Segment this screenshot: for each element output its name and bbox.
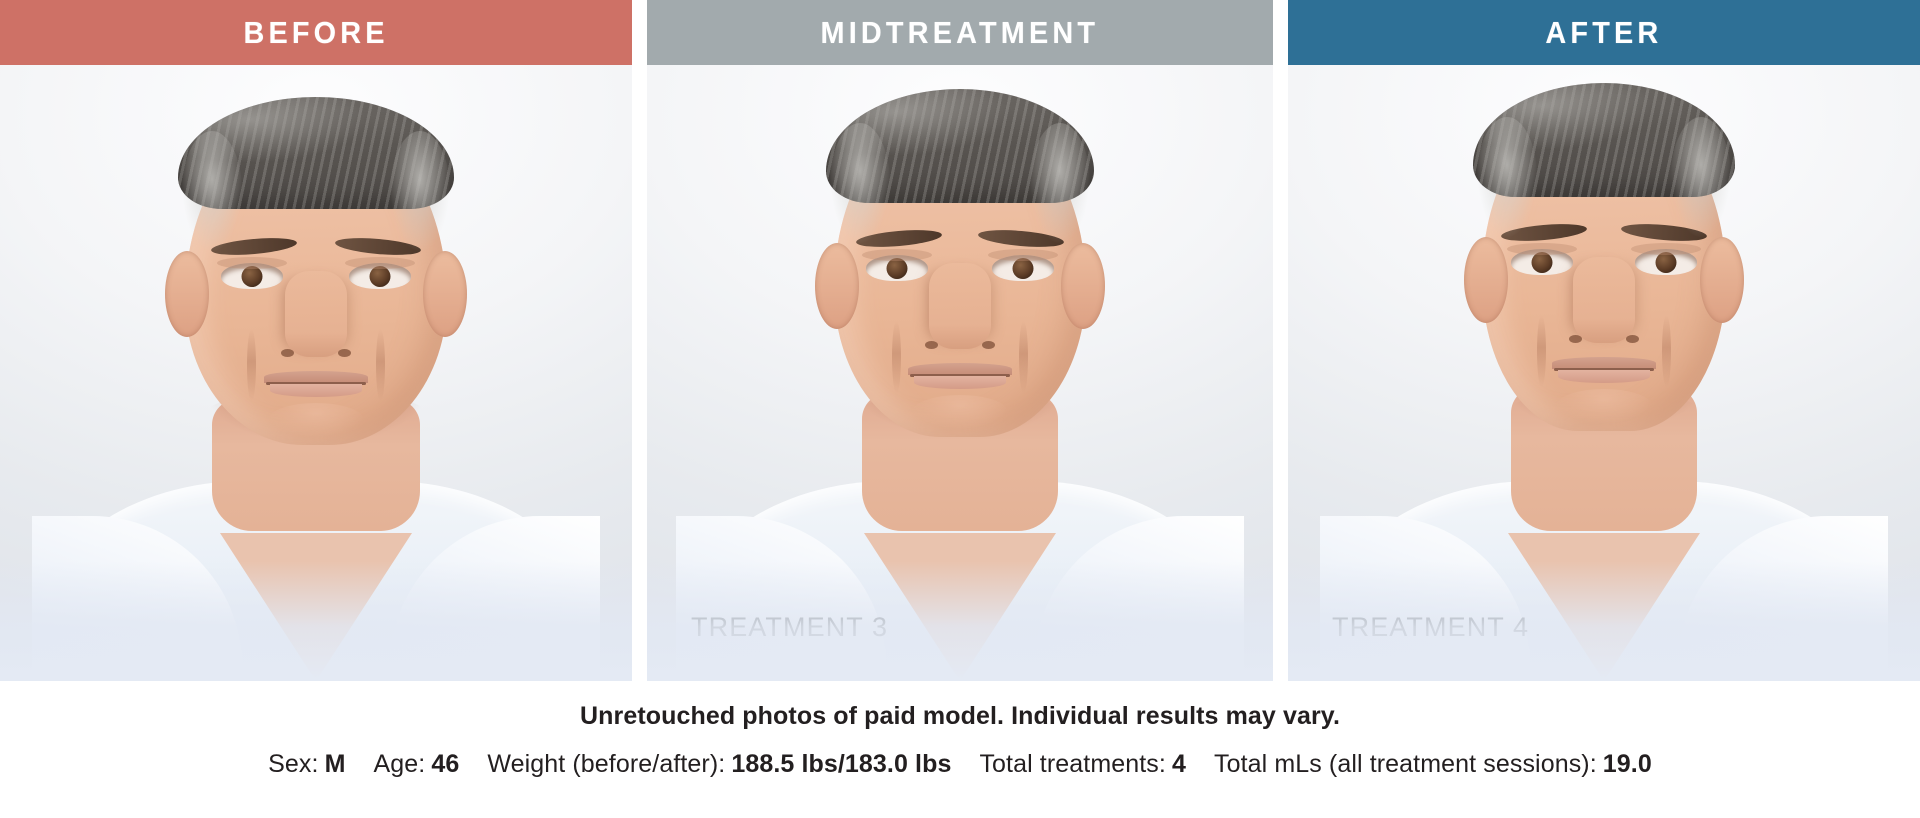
overlay-label-treatment-3: TREATMENT 3 bbox=[691, 612, 888, 643]
ear-left bbox=[815, 243, 859, 329]
nose bbox=[929, 263, 991, 349]
shoulder-right bbox=[1034, 516, 1244, 681]
mouth bbox=[1552, 357, 1656, 383]
shoulder-right bbox=[1678, 516, 1888, 681]
nostril-right bbox=[338, 349, 351, 357]
nose bbox=[285, 271, 347, 357]
hair bbox=[178, 97, 454, 209]
ear-right bbox=[1700, 237, 1744, 323]
chin bbox=[268, 403, 364, 437]
stat-total-mls-label: Total mLs (all treatment sessions): bbox=[1214, 750, 1597, 779]
header-label-midtreatment: MIDTREATMENT bbox=[821, 15, 1100, 51]
eyelid-left bbox=[1507, 243, 1577, 255]
graying-temple-left bbox=[830, 123, 890, 243]
graying-temple-left bbox=[182, 131, 242, 251]
nose bbox=[1573, 257, 1635, 343]
stat-sex: Sex: M bbox=[268, 750, 345, 779]
panel-midtreatment[interactable]: MIDTREATMENT bbox=[647, 0, 1273, 681]
footer: Unretouched photos of paid model. Indivi… bbox=[0, 681, 1920, 818]
panel-before[interactable]: BEFORE bbox=[0, 0, 632, 681]
chin bbox=[1556, 389, 1652, 423]
disclaimer-text: Unretouched photos of paid model. Indivi… bbox=[580, 702, 1340, 731]
stat-total-treatments-value: 4 bbox=[1172, 750, 1186, 779]
overlay-label-treatment-4: TREATMENT 4 bbox=[1332, 612, 1529, 643]
header-band-after: AFTER bbox=[1288, 0, 1920, 65]
iris-right bbox=[370, 266, 391, 287]
mouth bbox=[264, 371, 368, 397]
graying-temple-right bbox=[1030, 123, 1090, 243]
nasolabial-fold-right bbox=[1019, 321, 1028, 393]
photo-after: TREATMENT 4 bbox=[1288, 65, 1920, 681]
stat-weight-label: Weight (before/after): bbox=[487, 750, 725, 779]
v-neckline bbox=[864, 533, 1056, 681]
photo-before bbox=[0, 65, 632, 681]
photo-midtreatment: TREATMENT 3 bbox=[647, 65, 1273, 681]
header-label-after: AFTER bbox=[1545, 15, 1662, 51]
shoulder-left bbox=[1320, 516, 1530, 681]
stat-total-mls-value: 19.0 bbox=[1603, 750, 1652, 779]
subject-portrait-after bbox=[1324, 65, 1884, 681]
stat-total-treatments-label: Total treatments: bbox=[979, 750, 1166, 779]
nasolabial-fold-right bbox=[1662, 315, 1671, 387]
nostril-left bbox=[281, 349, 294, 357]
nostril-right bbox=[982, 341, 995, 349]
stat-sex-label: Sex: bbox=[268, 750, 318, 779]
subject-portrait-before bbox=[36, 65, 596, 681]
stats-line: Sex: M Age: 46 Weight (before/after): 18… bbox=[268, 750, 1652, 779]
lower-lip bbox=[270, 384, 362, 397]
lower-lip bbox=[1558, 370, 1650, 383]
nostril-left bbox=[1569, 335, 1582, 343]
stat-sex-value: M bbox=[325, 750, 346, 779]
eyelid-right bbox=[345, 257, 415, 269]
before-after-comparison-figure: BEFORE bbox=[0, 0, 1920, 818]
hair bbox=[1473, 83, 1735, 197]
shoulder-right bbox=[390, 516, 600, 681]
stat-total-treatments: Total treatments: 4 bbox=[979, 750, 1186, 779]
ear-right bbox=[423, 251, 467, 337]
ear-left bbox=[165, 251, 209, 337]
nasolabial-fold-left bbox=[892, 321, 901, 393]
eyelid-right bbox=[988, 249, 1058, 261]
lower-lip bbox=[914, 376, 1006, 389]
nostril-right bbox=[1626, 335, 1639, 343]
panel-after[interactable]: AFTER bbox=[1288, 0, 1920, 681]
ear-right bbox=[1061, 243, 1105, 329]
stat-age: Age: 46 bbox=[374, 750, 460, 779]
v-neckline bbox=[1508, 533, 1700, 681]
stat-age-value: 46 bbox=[431, 750, 459, 779]
eyelid-left bbox=[217, 257, 287, 269]
graying-temple-right bbox=[390, 131, 450, 251]
mouth bbox=[908, 363, 1012, 389]
stat-total-mls: Total mLs (all treatment sessions): 19.0 bbox=[1214, 750, 1652, 779]
shoulder-left bbox=[32, 516, 242, 681]
panel-row: BEFORE bbox=[0, 0, 1920, 681]
iris-left bbox=[887, 258, 908, 279]
stat-weight: Weight (before/after): 188.5 lbs/183.0 l… bbox=[487, 750, 951, 779]
header-band-midtreatment: MIDTREATMENT bbox=[647, 0, 1273, 65]
nasolabial-fold-left bbox=[1537, 315, 1546, 387]
iris-right bbox=[1013, 258, 1034, 279]
subject-portrait-midtreatment bbox=[680, 65, 1240, 681]
eyelid-left bbox=[862, 249, 932, 261]
graying-temple-left bbox=[1477, 117, 1537, 237]
iris-left bbox=[242, 266, 263, 287]
ear-left bbox=[1464, 237, 1508, 323]
nostril-left bbox=[925, 341, 938, 349]
eyelid-right bbox=[1631, 243, 1701, 255]
shoulder-left bbox=[676, 516, 886, 681]
v-neckline bbox=[220, 533, 412, 681]
iris-right bbox=[1656, 252, 1677, 273]
hair bbox=[826, 89, 1094, 203]
header-band-before: BEFORE bbox=[0, 0, 632, 65]
graying-temple-right bbox=[1671, 117, 1731, 237]
stat-age-label: Age: bbox=[374, 750, 426, 779]
header-label-before: BEFORE bbox=[243, 15, 388, 51]
iris-left bbox=[1532, 252, 1553, 273]
stat-weight-value: 188.5 lbs/183.0 lbs bbox=[731, 750, 951, 779]
chin bbox=[912, 395, 1008, 429]
nasolabial-fold-right bbox=[376, 329, 385, 401]
nasolabial-fold-left bbox=[247, 329, 256, 401]
